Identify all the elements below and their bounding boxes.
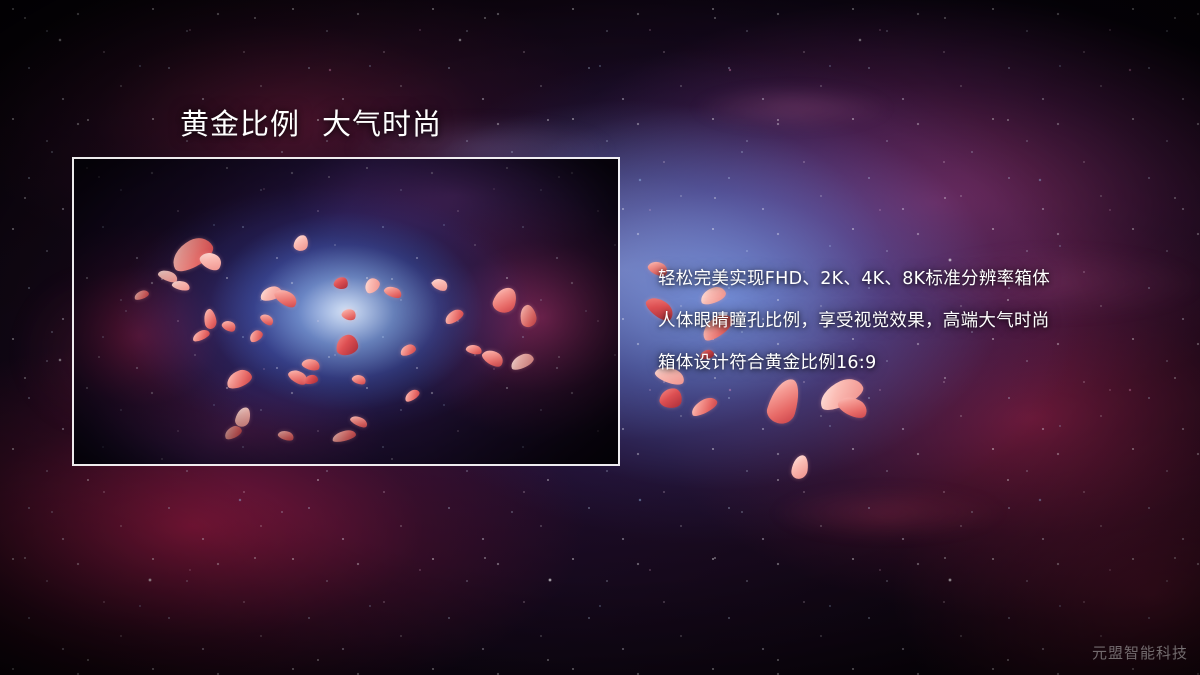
photo-frame [72,157,620,466]
body-line-3: 箱体设计符合黄金比例16:9 [658,342,1178,384]
body-line-2: 人体眼睛瞳孔比例，享受视觉效果，高端大气时尚 [658,300,1178,342]
photo-vignette [74,159,618,464]
title-part-2: 大气时尚 [322,107,442,141]
page-title: 黄金比例大气时尚 [180,101,442,143]
slide-canvas: 黄金比例大气时尚 轻松完美实现FHD、2K、4K、8K标准分辨率箱体 人体眼睛瞳… [0,0,1200,675]
body-copy: 轻松完美实现FHD、2K、4K、8K标准分辨率箱体 人体眼睛瞳孔比例，享受视觉效… [658,258,1178,384]
body-line-1: 轻松完美实现FHD、2K、4K、8K标准分辨率箱体 [658,258,1178,300]
title-part-1: 黄金比例 [180,107,300,141]
watermark: 元盟智能科技 [1092,642,1188,663]
